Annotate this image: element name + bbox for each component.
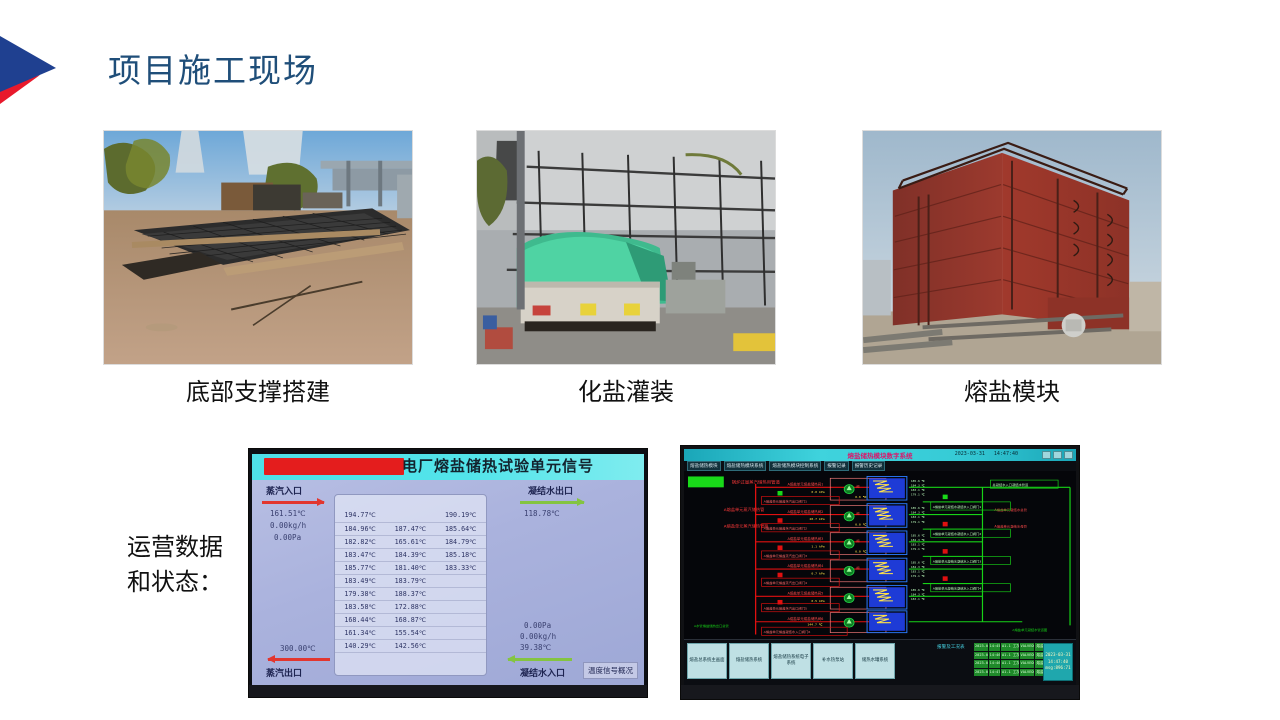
svg-text:A熔盐单元凝结水凝结水入口阀门2: A熔盐单元凝结水凝结水入口阀门2 <box>933 531 982 536</box>
alarm-log-cell: 14:47:13 <box>989 669 1000 677</box>
alarm-log-cell: 14:46:02 <box>989 652 1000 660</box>
svg-text:A熔盐单元凝结水凝结水入口阀门4: A熔盐单元凝结水凝结水入口阀门4 <box>933 586 982 591</box>
svg-text:A熔盐单元凝结水凝结水入口阀门3: A熔盐单元凝结水凝结水入口阀门3 <box>933 558 982 563</box>
temperature-cell: 168.87℃ <box>385 613 435 626</box>
maximize-icon[interactable] <box>1053 451 1062 459</box>
temperature-overview-button[interactable]: 温度信号概况 <box>583 662 638 679</box>
svg-text:185.6 ℃: 185.6 ℃ <box>911 561 926 565</box>
scada-process-diagram: 锅炉过量蒸汽储热用管道 A熔盐单元蒸汽储热管 A熔盐单元蒸汽储热管路 <box>684 471 1076 639</box>
temperature-cell: 155.54℃ <box>385 626 435 639</box>
scada-header-date: 2023-03-31 <box>955 451 985 457</box>
temperature-cell: 184.96℃ <box>335 522 385 535</box>
hmi-title: 电厂熔盐储热试验单元信号 <box>402 455 594 476</box>
alarm-log-cell: VALVEOPENED <box>1020 643 1035 651</box>
svg-text:A熔盐单元熔盐蒸汽出口阀门2: A熔盐单元熔盐蒸汽出口阀门2 <box>764 526 807 531</box>
alarm-log-cell: 14:46:51 <box>989 660 1000 668</box>
svg-text:A熔盐单元凝结水凝结水入口阀门1: A熔盐单元凝结水凝结水入口阀门1 <box>933 504 982 509</box>
scada-monitor-bezel <box>681 685 1079 699</box>
svg-text:1.1 kPa: 1.1 kPa <box>811 544 825 548</box>
svg-text:A熔盐单元熔盐蒸汽出口阀门5: A熔盐单元熔盐蒸汽出口阀门5 <box>764 606 807 611</box>
alarm-table-label: 报警及工况表 <box>937 644 965 650</box>
temperature-table-row: 179.38℃188.37℃ <box>335 587 486 600</box>
scada-menu-item-3[interactable]: 报警记录 <box>824 461 848 471</box>
temperature-cell: 185.64℃ <box>436 522 486 535</box>
svg-text:184.3 ℃: 184.3 ℃ <box>911 593 926 597</box>
condensate-outlet-temp: 118.78℃ <box>524 509 560 518</box>
svg-text:0.0 ℃: 0.0 ℃ <box>855 523 867 527</box>
condensate-inlet-temp: 39.38℃ <box>520 643 551 652</box>
alarm-log-cell: 2023-03-31 <box>974 660 988 668</box>
scada-tab-4[interactable]: 储热水罐系统 <box>855 643 895 679</box>
temperature-cell: 183.79℃ <box>385 574 435 587</box>
alarm-log-cell: 14:45:30 <box>989 643 1000 651</box>
hmi-monitor-bezel <box>249 685 647 697</box>
svg-text:185.6 ℃: 185.6 ℃ <box>911 534 926 538</box>
temperature-table-row: 184.96℃187.47℃185.64℃ <box>335 522 486 535</box>
svg-text:A水管熔盐储热出口总管: A水管熔盐储热出口总管 <box>694 623 729 628</box>
temperature-cell <box>436 626 486 639</box>
temperature-table-row: 194.77℃190.19℃ <box>335 509 486 522</box>
temperature-cell <box>436 600 486 613</box>
alarm-log-row[interactable]: 2023-03-3114:46:51A1-1 工况 Pt-3VALVEOPENE… <box>974 660 1049 668</box>
svg-text:A熔盐单元熔盐储热阀4: A熔盐单元熔盐储热阀4 <box>787 563 823 568</box>
temperature-table-row: 161.34℃155.54℃ <box>335 626 486 639</box>
svg-text:A熔盐单元熔盐储热阀1: A熔盐单元熔盐储热阀1 <box>787 482 823 487</box>
photo-molten-salt-module <box>862 130 1162 365</box>
svg-text:总凝结水入口凝结水管道: 总凝结水入口凝结水管道 <box>992 482 1028 487</box>
redacted-company-name <box>264 458 404 475</box>
scada-system-panel: 熔盐储热模块数字系统 2023-03-31 14:47:40 熔盐储热模块熔盐储… <box>680 445 1080 700</box>
svg-text:185.6 ℃: 185.6 ℃ <box>911 506 926 510</box>
clock-msg-count: msg:896:71 <box>1045 665 1070 672</box>
temperature-cell: 183.33℃ <box>436 561 486 574</box>
svg-text:184.3 ℃: 184.3 ℃ <box>911 565 926 569</box>
blue-red-triangle-logo <box>0 28 62 104</box>
svg-text:A熔盐单元蒸汽储热管: A熔盐单元蒸汽储热管 <box>724 506 764 512</box>
svg-text:阀: 阀 <box>856 511 859 516</box>
svg-text:A熔盐单元熔盐储热阀5: A熔盐单元熔盐储热阀5 <box>787 591 823 596</box>
scada-title-bar: 熔盐储热模块数字系统 2023-03-31 14:47:40 <box>684 449 1076 461</box>
temperature-cell: 183.47℃ <box>335 548 385 561</box>
temperature-cell: 194.77℃ <box>335 509 385 522</box>
temperature-cell <box>436 639 486 652</box>
photo-construction-base <box>103 130 413 365</box>
temperature-cell: 181.40℃ <box>385 561 435 574</box>
svg-text:0.7 kPa: 0.7 kPa <box>811 572 825 576</box>
temperature-cell <box>436 587 486 600</box>
svg-text:A熔盐单元凝结水母管: A熔盐单元凝结水母管 <box>994 523 1027 528</box>
temperature-table-row: 140.29℃142.56℃ <box>335 639 486 652</box>
temperature-table-row: 185.77℃181.40℃183.33℃ <box>335 561 486 574</box>
svg-text:185.6 ℃: 185.6 ℃ <box>911 588 926 592</box>
scada-tab-3[interactable]: 补水热泵站 <box>813 643 853 679</box>
svg-text:28.7 kPa: 28.7 kPa <box>809 517 824 521</box>
temperature-table-row: 183.49℃183.79℃ <box>335 574 486 587</box>
temperature-cell: 179.38℃ <box>335 587 385 600</box>
svg-text:185.6 ℃: 185.6 ℃ <box>911 479 926 483</box>
temperature-cell: 187.47℃ <box>385 522 435 535</box>
temperature-cell <box>385 509 435 522</box>
alarm-log-cell: 2023-03-31 <box>974 652 988 660</box>
scada-menu-item-2[interactable]: 熔盐储热模块控制系统 <box>769 461 821 471</box>
condensate-outlet-arrow <box>520 499 584 505</box>
scada-menu-item-1[interactable]: 熔盐储热模块系统 <box>724 461 767 471</box>
svg-text:A熔盐单元熔盐蒸汽出口阀门1: A熔盐单元熔盐蒸汽出口阀门1 <box>764 499 807 504</box>
window-controls[interactable] <box>1042 451 1073 459</box>
photo-salt-melting-filling <box>476 130 776 365</box>
svg-text:183.1 ℃: 183.1 ℃ <box>911 597 926 601</box>
scada-screen: 熔盐储热模块数字系统 2023-03-31 14:47:40 熔盐储热模块熔盐储… <box>684 449 1076 685</box>
temperature-cell: 184.79℃ <box>436 535 486 548</box>
alarm-log-cell: VALVEOPENED <box>1020 652 1035 660</box>
condensate-inlet-pressure: 0.00Pa <box>524 621 551 630</box>
svg-text:阀: 阀 <box>856 565 859 570</box>
scada-clock-widget: 2023-03-31 14:47:40 msg:896:71 <box>1043 643 1073 681</box>
alarm-log-cell: A1-1 工况 Pt-3 <box>1001 660 1019 668</box>
hmi-title-bar: 电厂熔盐储热试验单元信号 <box>252 454 644 480</box>
steam-inlet-arrow <box>262 499 324 505</box>
scada-menu-bar[interactable]: 熔盐储热模块熔盐储热模块系统熔盐储热模块控制系统报警记录报警历史记录 <box>684 461 1076 471</box>
svg-text:179.1 ℃: 179.1 ℃ <box>911 547 926 551</box>
svg-text:0.5 kPa: 0.5 kPa <box>811 599 825 603</box>
operational-data-label: 运营数据 和状态： <box>100 530 250 600</box>
svg-text:183.1 ℃: 183.1 ℃ <box>911 570 926 574</box>
scada-menu-item-4[interactable]: 报警历史记录 <box>852 461 886 471</box>
clock-date: 2023-03-31 <box>1045 652 1070 659</box>
svg-text:阀: 阀 <box>856 538 859 543</box>
photo-caption-3: 熔盐模块 <box>862 372 1162 407</box>
temperature-cell: 185.18℃ <box>436 548 486 561</box>
scada-bottom-bar: 熔盐总系统主画面熔盐储热系统熔盐储热系统电子系统补水热泵站储热水罐系统 报警及工… <box>684 639 1076 685</box>
hmi-signal-panel: 电厂熔盐储热试验单元信号 蒸汽入口 161.51℃ 0.00kg/h 0.00P… <box>248 448 648 698</box>
svg-text:179.1 ℃: 179.1 ℃ <box>911 520 926 524</box>
photo-caption-1: 底部支撑搭建 <box>103 372 413 407</box>
svg-text:144.7 ℃: 144.7 ℃ <box>807 623 823 627</box>
temperature-cell: 184.39℃ <box>385 548 435 561</box>
svg-text:184.3 ℃: 184.3 ℃ <box>911 511 926 515</box>
ops-label-line1: 运营数据 <box>100 530 250 565</box>
svg-text:阀: 阀 <box>856 484 859 489</box>
temperature-table-row: 183.58℃172.88℃ <box>335 600 486 613</box>
scada-tab-buttons[interactable]: 熔盐总系统主画面熔盐储热系统熔盐储热系统电子系统补水热泵站储热水罐系统 <box>687 643 895 679</box>
temperature-cell: 142.56℃ <box>385 639 435 652</box>
hmi-screen: 电厂熔盐储热试验单元信号 蒸汽入口 161.51℃ 0.00kg/h 0.00P… <box>252 454 644 685</box>
svg-text:183.1 ℃: 183.1 ℃ <box>911 543 926 547</box>
temperature-cell: 182.82℃ <box>335 535 385 548</box>
svg-text:184.3 ℃: 184.3 ℃ <box>911 538 926 542</box>
alarm-log-cell: A1-1 工况 Pt-2 <box>1001 652 1019 660</box>
svg-text:0.0 kPa: 0.0 kPa <box>811 490 825 494</box>
svg-text:179.1 ℃: 179.1 ℃ <box>911 574 926 578</box>
scada-title: 熔盐储热模块数字系统 <box>848 450 913 460</box>
steam-inlet-temp: 161.51℃ <box>270 509 306 518</box>
svg-text:A熔盐单元熔盐储热阀6: A熔盐单元熔盐储热阀6 <box>787 616 823 621</box>
page-title: 项目施工现场 <box>108 44 318 92</box>
svg-text:A熔盐单元熔盐储热阀3: A熔盐单元熔盐储热阀3 <box>787 536 823 541</box>
svg-text:A熔盐单元熔盐储热阀2: A熔盐单元熔盐储热阀2 <box>787 509 823 514</box>
alarm-log-cell: 2023-03-31 <box>974 643 988 651</box>
alarm-log-cell: VALVEOPENED <box>1020 669 1035 677</box>
minimize-icon[interactable] <box>1042 451 1051 459</box>
clock-time: 14:47:40 <box>1048 659 1068 666</box>
svg-text:179.1 ℃: 179.1 ℃ <box>911 493 926 497</box>
close-icon[interactable] <box>1064 451 1073 459</box>
svg-text:183.1 ℃: 183.1 ℃ <box>911 488 926 492</box>
hmi-body: 蒸汽入口 161.51℃ 0.00kg/h 0.00Pa 凝结水出口 118.7… <box>252 480 644 685</box>
temperature-cell: 140.29℃ <box>335 639 385 652</box>
scada-menu-item-0[interactable]: 熔盐储热模块 <box>687 461 721 471</box>
temperature-cell: 165.61℃ <box>385 535 435 548</box>
scada-tab-1[interactable]: 熔盐储热系统 <box>729 643 769 679</box>
temperature-cell: 168.44℃ <box>335 613 385 626</box>
temperature-cell <box>436 574 486 587</box>
alarm-log-row[interactable]: 2023-03-3114:45:30A1-1 工况 Pt-1VALVEOPENE… <box>974 643 1049 651</box>
temperature-table: 194.77℃190.19℃184.96℃187.47℃185.64℃182.8… <box>335 509 486 653</box>
temperature-cell: 185.77℃ <box>335 561 385 574</box>
temperature-cell: 161.34℃ <box>335 626 385 639</box>
svg-text:A熔盐单元熔盐蒸汽出口阀门3: A熔盐单元熔盐蒸汽出口阀门3 <box>764 553 807 558</box>
steam-inlet-label: 蒸汽入口 <box>266 484 302 497</box>
steam-inlet-flow: 0.00kg/h <box>270 521 306 530</box>
alarm-log-row[interactable]: 2023-03-3114:47:13A1-1 工况 Pt-4VALVEOPENE… <box>974 669 1049 677</box>
photo-caption-2: 化盐灌装 <box>476 372 776 407</box>
scada-tab-0[interactable]: 熔盐总系统主画面 <box>687 643 727 679</box>
svg-text:A熔盐单元熔盐蒸汽出口阀门4: A熔盐单元熔盐蒸汽出口阀门4 <box>764 580 807 585</box>
steam-outlet-temp: 300.00℃ <box>280 644 316 653</box>
alarm-log-cell: A1-1 工况 Pt-4 <box>1001 669 1019 677</box>
temperature-readout-table: 194.77℃190.19℃184.96℃187.47℃185.64℃182.8… <box>334 494 487 676</box>
svg-text:A熔盐单元熔盐凝结水入口阀门6: A熔盐单元熔盐凝结水入口阀门6 <box>764 629 811 634</box>
steam-inlet-pressure: 0.00Pa <box>274 533 301 542</box>
temperature-cell: 183.49℃ <box>335 574 385 587</box>
condensate-inlet-label: 凝结水入口 <box>520 666 565 679</box>
ops-label-line2: 和状态： <box>100 565 250 600</box>
svg-text:A熔盐单元凝结水总管: A熔盐单元凝结水总管 <box>994 507 1027 512</box>
temperature-cell <box>436 613 486 626</box>
scada-header-datetime: 2023-03-31 14:47:40 <box>955 451 1018 457</box>
temperature-table-row: 182.82℃165.61℃184.79℃ <box>335 535 486 548</box>
slide-root: 项目施工现场 <box>0 0 1280 720</box>
temperature-table-row: 183.47℃184.39℃185.18℃ <box>335 548 486 561</box>
steam-outlet-label: 蒸汽出口 <box>266 666 302 679</box>
temperature-table-row: 168.44℃168.87℃ <box>335 613 486 626</box>
svg-text:0.0 ℃: 0.0 ℃ <box>855 495 867 499</box>
temperature-cell: 183.58℃ <box>335 600 385 613</box>
temperature-cell: 190.19℃ <box>436 509 486 522</box>
condensate-inlet-flow: 0.00kg/h <box>520 632 556 641</box>
steam-outlet-arrow <box>268 656 330 662</box>
svg-text:0.0 ℃: 0.0 ℃ <box>855 550 867 554</box>
temperature-cell: 188.37℃ <box>385 587 435 600</box>
scada-tab-2[interactable]: 熔盐储热系统电子系统 <box>771 643 811 679</box>
photo-row <box>0 130 1280 365</box>
alarm-log-table[interactable]: 2023-03-3114:45:30A1-1 工况 Pt-1VALVEOPENE… <box>974 643 1049 681</box>
svg-text:183.1 ℃: 183.1 ℃ <box>911 515 926 519</box>
scada-header-time: 14:47:40 <box>994 451 1018 457</box>
svg-text:184.3 ℃: 184.3 ℃ <box>911 484 926 488</box>
alarm-log-row[interactable]: 2023-03-3114:46:02A1-1 工况 Pt-2VALVEOPENE… <box>974 652 1049 660</box>
alarm-log-cell: VALVEOPENED <box>1020 660 1035 668</box>
alarm-log-cell: 2023-03-31 <box>974 669 988 677</box>
svg-text:A熔盐单元凝结水管道图: A熔盐单元凝结水管道图 <box>1012 627 1047 632</box>
temperature-cell: 172.88℃ <box>385 600 435 613</box>
condensate-inlet-arrow <box>508 656 572 662</box>
alarm-log-cell: A1-1 工况 Pt-1 <box>1001 643 1019 651</box>
condensate-outlet-label: 凝结水出口 <box>528 484 573 497</box>
